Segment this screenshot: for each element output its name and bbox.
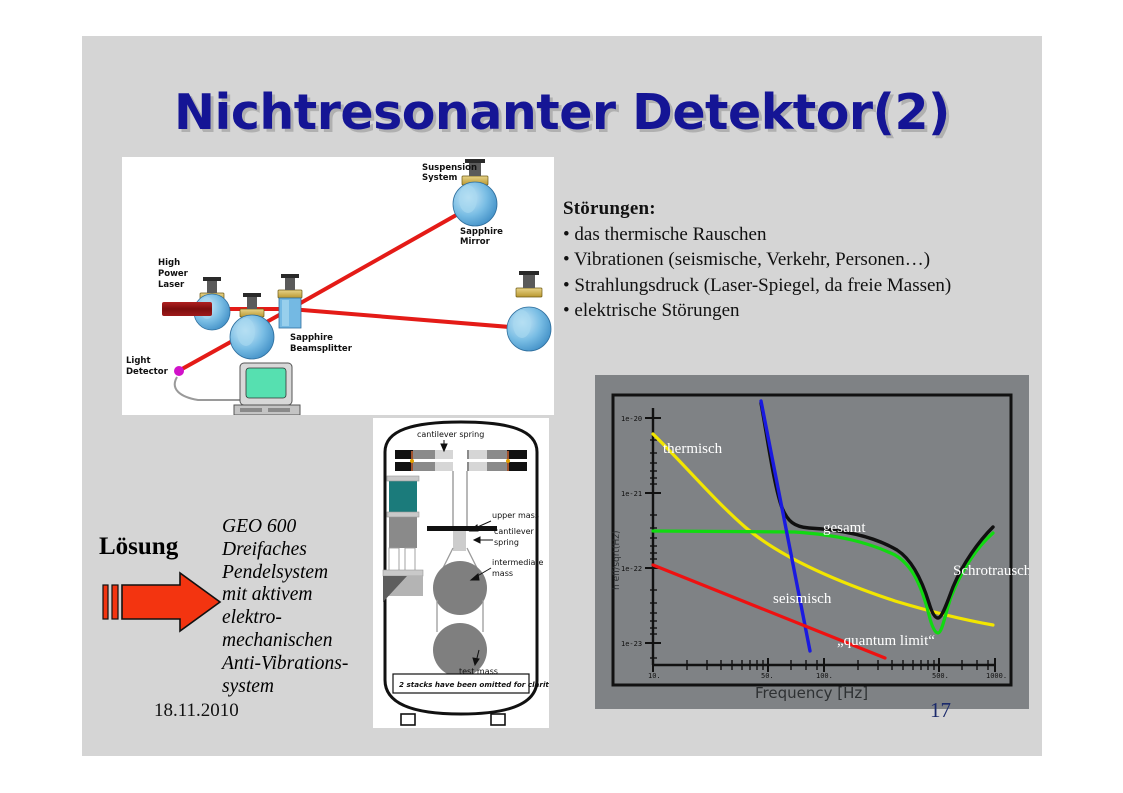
disturbance-item-2: • Strahlungsdruck (Laser-Spiegel, da fre… bbox=[563, 275, 1033, 297]
label-test-mass: test mass bbox=[459, 667, 498, 676]
label-sapphire-mirror-line1: Sapphire bbox=[460, 227, 503, 237]
disturbance-item-3: • elektrische Störungen bbox=[563, 300, 1033, 322]
chart-xlabel: Frequency [Hz] bbox=[755, 684, 868, 702]
series-label-schrotrauschen: Schrotrausch bbox=[953, 563, 1029, 579]
label-intermediate-mass-line1: intermediate bbox=[492, 558, 544, 567]
label-upper-mass: upper mass bbox=[492, 511, 539, 520]
series-label-quantum-limit: „quantum limit“ bbox=[837, 633, 935, 649]
label-high-power-laser-line2: Power bbox=[158, 269, 189, 279]
label-high-power-laser-line3: Laser bbox=[158, 280, 185, 290]
slide-date: 18.11.2010 bbox=[154, 700, 239, 722]
label-suspension-system-line2: System bbox=[422, 173, 458, 183]
series-label-gesamt: gesamt bbox=[823, 520, 866, 536]
ytick-label-0: 1e-20 bbox=[621, 415, 642, 423]
interferometer-diagram: Suspension System Sapphire Mirror High P… bbox=[122, 157, 554, 415]
ytick-label-1: 1e-21 bbox=[621, 490, 642, 498]
disturbances-block: Störungen: • das thermische Rauschen • V… bbox=[563, 198, 1033, 322]
solution-arrow-icon bbox=[102, 571, 227, 633]
slide-canvas: Nichtresonanter Detektor(2) bbox=[82, 36, 1042, 756]
label-intermediate-mass-line2: mass bbox=[492, 569, 513, 578]
xtick-label-3: 500. bbox=[932, 672, 949, 680]
xtick-label-2: 100. bbox=[816, 672, 833, 680]
disturbance-item-1: • Vibrationen (seismische, Verkehr, Pers… bbox=[563, 249, 1033, 271]
label-sapphire-mirror-line2: Mirror bbox=[460, 237, 491, 247]
xtick-label-4: 1000. bbox=[986, 672, 1007, 680]
page-title: Nichtresonanter Detektor(2) bbox=[82, 84, 1042, 141]
page-number: 17 bbox=[930, 698, 951, 723]
solution-text-line-5: Anti-Vibrations- bbox=[222, 653, 362, 676]
series-label-thermisch: thermisch bbox=[663, 441, 723, 457]
label-cantilever-spring-top: cantilever spring bbox=[417, 430, 484, 439]
solution-text-line-4: mechanischen bbox=[222, 630, 362, 653]
xtick-label-0: 10. bbox=[648, 672, 661, 680]
series-label-seismisch: seismisch bbox=[773, 591, 832, 607]
disturbances-heading: Störungen: bbox=[563, 198, 1033, 220]
label-cantilever-spring-line1: cantilever bbox=[494, 527, 535, 536]
chart-ylabel: h eff/sqrt(Hz) bbox=[612, 531, 622, 590]
label-light-detector-line1: Light bbox=[126, 356, 151, 366]
solution-text-line-0: GEO 600 bbox=[222, 516, 362, 539]
ytick-label-2: 1e-22 bbox=[621, 565, 642, 573]
slide-page: Nichtresonanter Detektor(2) bbox=[0, 0, 1123, 793]
label-high-power-laser-line1: High bbox=[158, 258, 180, 268]
xtick-label-1: 50. bbox=[761, 672, 774, 680]
noise-budget-chart: 1e-20 1e-21 1e-22 1e-23 10. 50. 100. 500… bbox=[595, 375, 1029, 709]
label-cantilever-spring-line2: spring bbox=[494, 538, 519, 547]
solution-text: GEO 600 Dreifaches Pendelsystem mit akti… bbox=[222, 516, 362, 699]
solution-text-line-3: mit aktivem elektro- bbox=[222, 584, 362, 630]
label-suspension-system-line1: Suspension bbox=[422, 163, 477, 173]
solution-text-line-1: Dreifaches bbox=[222, 539, 362, 562]
solution-label: Lösung bbox=[99, 533, 178, 561]
label-sapphire-beamsplitter-line1: Sapphire bbox=[290, 333, 333, 343]
label-light-detector-line2: Detector bbox=[126, 367, 169, 377]
disturbance-item-0: • das thermische Rauschen bbox=[563, 224, 1033, 246]
pendulum-diagram: cantilever spring upper mass cantilever … bbox=[373, 418, 549, 728]
label-sapphire-beamsplitter-line2: Beamsplitter bbox=[290, 344, 353, 354]
solution-text-line-6: system bbox=[222, 676, 362, 699]
solution-text-line-2: Pendelsystem bbox=[222, 562, 362, 585]
label-stacks-note: 2 stacks have been omitted for clarity bbox=[399, 680, 549, 689]
ytick-label-3: 1e-23 bbox=[621, 640, 642, 648]
